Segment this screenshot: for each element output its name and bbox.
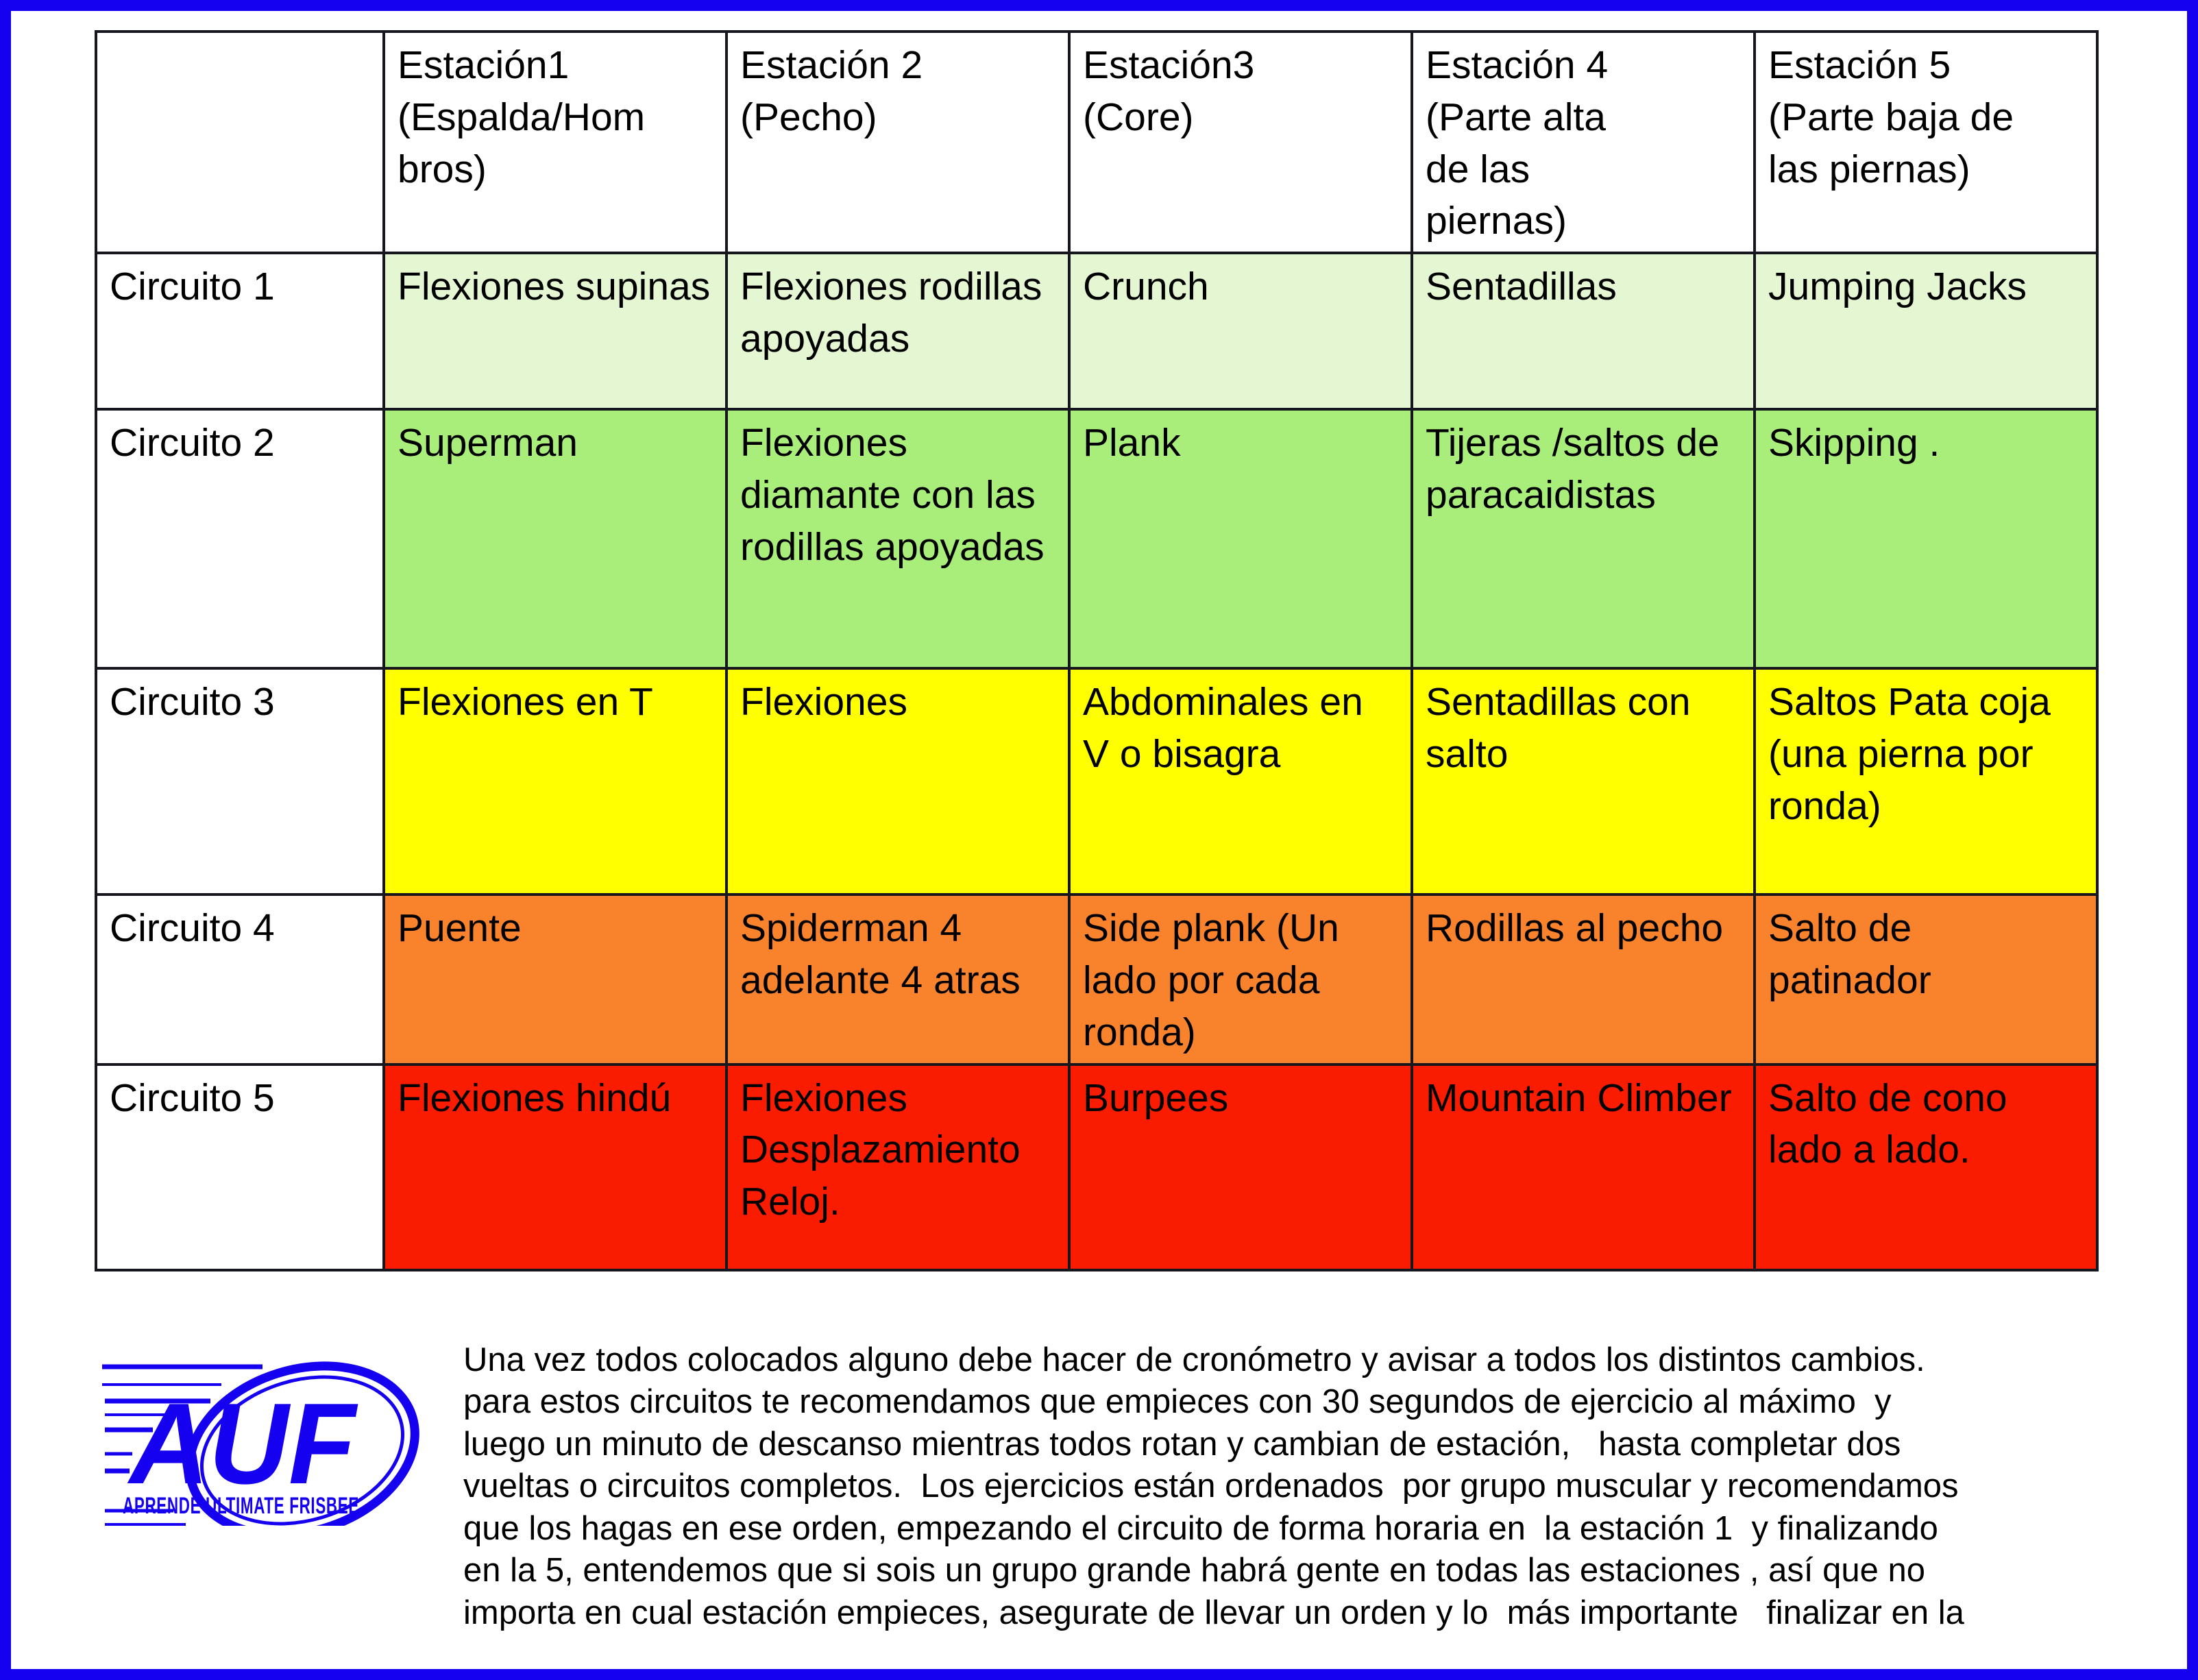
footer-area: AUF APRENDE ULTIMATE FRISBEE Una vez tod…	[11, 1334, 2190, 1634]
header-line: Estación 4	[1426, 43, 1608, 87]
header-line: Estación1	[398, 43, 569, 87]
cell-c3-e5: Saltos Pata coja (una pierna por ronda)	[1755, 668, 2097, 894]
footer-note-text: Una vez todos colocados alguno debe hace…	[463, 1339, 2115, 1634]
header-line: Estación 5	[1768, 43, 1951, 87]
auf-wordmark: AUF	[127, 1379, 358, 1508]
cell-c5-e1: Flexiones hindú	[384, 1064, 726, 1270]
circuit-table: Estación1 (Espalda/Hom bros) Estación 2 …	[95, 30, 2099, 1271]
cell-c5-e3: Burpees	[1069, 1064, 1412, 1270]
header-line: (Espalda/Hom	[398, 95, 645, 139]
cell-c1-e1: Flexiones supinas	[384, 253, 726, 409]
cell-c4-e2: Spiderman 4 adelante 4 atras	[726, 894, 1069, 1064]
page-frame: Estación1 (Espalda/Hom bros) Estación 2 …	[0, 0, 2198, 1680]
header-line: (Parte alta	[1426, 95, 1606, 139]
auf-logo: AUF APRENDE ULTIMATE FRISBEE	[11, 1334, 463, 1526]
document-sheet: Estación1 (Espalda/Hom bros) Estación 2 …	[11, 11, 2187, 1669]
row-label-circuito-2: Circuito 2	[96, 409, 384, 668]
header-line: bros)	[398, 147, 487, 191]
row-label-circuito-1: Circuito 1	[96, 253, 384, 409]
table-row: Circuito 1 Flexiones supinas Flexiones r…	[96, 253, 2097, 409]
cell-c5-e2: Flexiones Desplazamiento Reloj.	[726, 1064, 1069, 1270]
table-row: Circuito 3 Flexiones en T Flexiones Abdo…	[96, 668, 2097, 894]
header-line: de las	[1426, 147, 1530, 191]
cell-c1-e2: Flexiones rodillas apoyadas	[726, 253, 1069, 409]
auf-tagline: APRENDE ULTIMATE FRISBEE	[123, 1493, 359, 1519]
cell-c4-e3: Side plank (Un lado por cada ronda)	[1069, 894, 1412, 1064]
cell-c4-e4: Rodillas al pecho	[1412, 894, 1755, 1064]
column-header-estacion-4: Estación 4 (Parte alta de las piernas)	[1412, 32, 1755, 253]
cell-c2-e3: Plank	[1069, 409, 1412, 668]
header-line: (Parte baja de	[1768, 95, 2014, 139]
header-line: (Pecho)	[740, 95, 877, 139]
cell-c1-e4: Sentadillas	[1412, 253, 1755, 409]
table-row: Circuito 2 Superman Flexiones diamante c…	[96, 409, 2097, 668]
cell-c2-e5: Skipping .	[1755, 409, 2097, 668]
column-header-estacion-3: Estación3 (Core)	[1069, 32, 1412, 253]
cell-c4-e1: Puente	[384, 894, 726, 1064]
cell-c3-e1: Flexiones en T	[384, 668, 726, 894]
table-corner-cell	[96, 32, 384, 253]
footer-note: Una vez todos colocados alguno debe hace…	[463, 1334, 2190, 1634]
row-label-circuito-4: Circuito 4	[96, 894, 384, 1064]
header-line: Estación3	[1083, 43, 1254, 87]
cell-c2-e1: Superman	[384, 409, 726, 668]
cell-c3-e4: Sentadillas con salto	[1412, 668, 1755, 894]
cell-c4-e5: Salto de patinador	[1755, 894, 2097, 1064]
cell-c1-e5: Jumping Jacks	[1755, 253, 2097, 409]
column-header-estacion-2: Estación 2 (Pecho)	[726, 32, 1069, 253]
table-row: Circuito 5 Flexiones hindú Flexiones Des…	[96, 1064, 2097, 1270]
table-header: Estación1 (Espalda/Hom bros) Estación 2 …	[96, 32, 2097, 253]
cell-c5-e4: Mountain Climber	[1412, 1064, 1755, 1270]
cell-c5-e5: Salto de cono lado a lado.	[1755, 1064, 2097, 1270]
cell-c2-e2: Flexiones diamante con las rodillas apoy…	[726, 409, 1069, 668]
table-row: Circuito 4 Puente Spiderman 4 adelante 4…	[96, 894, 2097, 1064]
table-body: Circuito 1 Flexiones supinas Flexiones r…	[96, 253, 2097, 1269]
row-label-circuito-5: Circuito 5	[96, 1064, 384, 1270]
row-label-circuito-3: Circuito 3	[96, 668, 384, 894]
cell-c3-e2: Flexiones	[726, 668, 1069, 894]
cell-c2-e4: Tijeras /saltos de paracaidistas	[1412, 409, 1755, 668]
column-header-estacion-1: Estación1 (Espalda/Hom bros)	[384, 32, 726, 253]
header-line: Estación 2	[740, 43, 923, 87]
cell-c3-e3: Abdominales en V o bisagra	[1069, 668, 1412, 894]
header-line: piernas)	[1426, 199, 1567, 243]
header-row: Estación1 (Espalda/Hom bros) Estación 2 …	[96, 32, 2097, 253]
column-header-estacion-5: Estación 5 (Parte baja de las piernas)	[1755, 32, 2097, 253]
cell-c1-e3: Crunch	[1069, 253, 1412, 409]
header-line: las piernas)	[1768, 147, 1970, 191]
auf-logo-icon: AUF APRENDE ULTIMATE FRISBEE	[97, 1354, 432, 1526]
circuit-table-wrapper: Estación1 (Espalda/Hom bros) Estación 2 …	[95, 30, 2096, 1271]
header-line: (Core)	[1083, 95, 1194, 139]
